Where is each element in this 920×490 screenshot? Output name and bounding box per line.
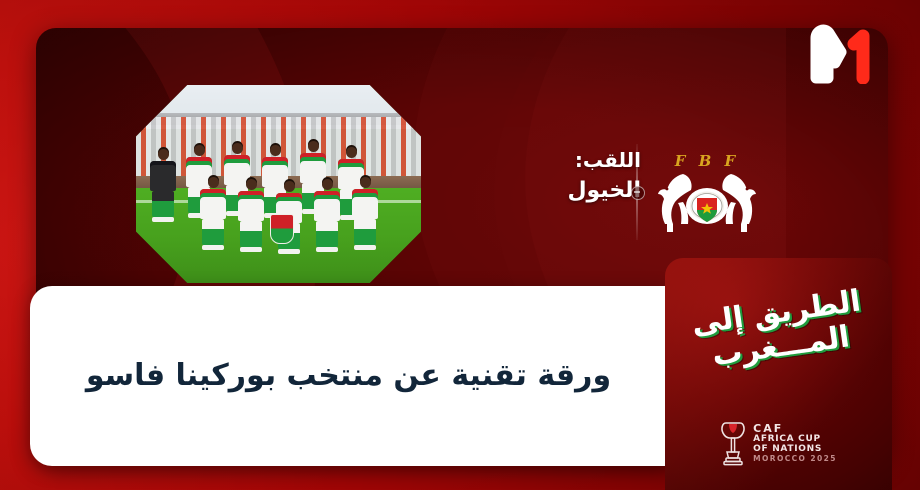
player-figure: [198, 177, 228, 250]
nickname-label: اللقب:: [506, 146, 641, 175]
screenshot-stage: اللقب: الخيول F B F: [0, 0, 920, 490]
caf-host-text: MOROCCO 2025: [753, 455, 837, 463]
m1-channel-logo-icon: [810, 22, 894, 84]
trophy-icon: [720, 420, 746, 466]
player-figure: [148, 149, 178, 222]
player-figure: [350, 177, 380, 250]
headline-panel: ورقة تقنية عن منتخب بوركينا فاسو: [30, 286, 667, 466]
photo-players: [136, 85, 421, 283]
team-crest-plaque: [270, 214, 294, 244]
team-photo-image: [136, 85, 421, 283]
player-figure: [236, 179, 266, 252]
divider-node-icon: [631, 186, 645, 200]
road-to-morocco-badge: الطريق إلى المـــغرب CAF AFRICA CUP OF N…: [665, 258, 892, 490]
svg-text:F B F: F B F: [674, 152, 739, 170]
team-photo: [136, 85, 421, 283]
caf-wordmark: CAF AFRICA CUP OF NATIONS MOROCCO 2025: [753, 423, 837, 462]
page-title: ورقة تقنية عن منتخب بوركينا فاسو: [60, 356, 637, 397]
nickname-block: اللقب: الخيول: [506, 146, 641, 207]
fbf-emblem-icon: F B F: [653, 146, 761, 238]
nickname-value: الخيول: [506, 175, 641, 207]
vertical-divider: [636, 144, 638, 240]
player-figure: [312, 179, 342, 252]
caf-afcon-logo: CAF AFRICA CUP OF NATIONS MOROCCO 2025: [665, 420, 892, 466]
